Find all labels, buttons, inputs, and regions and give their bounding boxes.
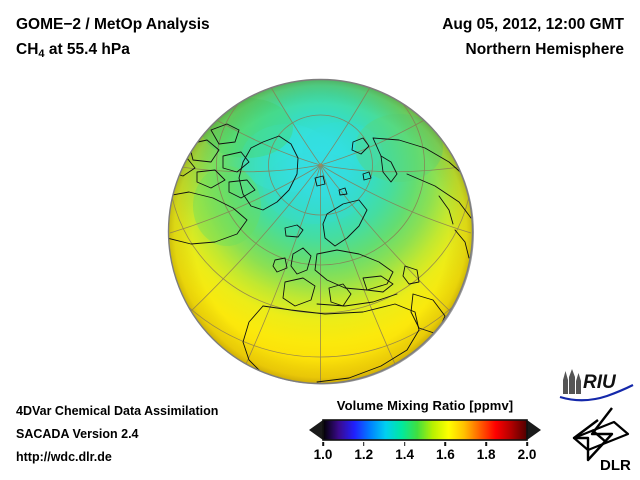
colorbar-tick-label: 1.4	[395, 447, 414, 462]
colorbar-cap-high	[527, 420, 541, 440]
globe-map	[167, 78, 474, 385]
riu-logo: RIU	[557, 368, 635, 402]
colorbar-tick-mark	[363, 442, 365, 446]
colorbar-tick-mark	[485, 442, 487, 446]
datetime-label: Aug 05, 2012, 12:00 GMT	[442, 12, 624, 37]
header-right: Aug 05, 2012, 12:00 GMT Northern Hemisph…	[442, 12, 624, 62]
species-subscript: 4	[38, 48, 44, 60]
version-label: SACADA Version 2.4	[16, 423, 218, 446]
colorbar-tick-mark	[322, 442, 324, 446]
colorbar-cap-low	[309, 420, 323, 440]
north-pole-marker	[319, 163, 322, 166]
website-url[interactable]: http://wdc.dlr.de	[16, 446, 218, 469]
riu-wordmark: RIU	[583, 372, 617, 393]
colorbar-tick-mark	[404, 442, 406, 446]
riu-tower-icon	[563, 369, 581, 394]
hemisphere-label: Northern Hemisphere	[442, 37, 624, 62]
colorbar-tick-label: 1.8	[477, 447, 496, 462]
pressure-level: at 55.4 hPa	[45, 41, 130, 58]
colorbar-bar	[305, 418, 545, 442]
colorbar-title: Volume Mixing Ratio [ppmv]	[305, 398, 545, 413]
orthographic-projection	[167, 78, 474, 385]
colorbar-gradient	[323, 420, 527, 440]
colorbar-tick-mark	[526, 442, 528, 446]
instrument-title: GOME−2 / MetOp Analysis	[16, 12, 210, 37]
header-left: GOME−2 / MetOp Analysis CH4 at 55.4 hPa	[16, 12, 210, 64]
dlr-mark-icon	[574, 408, 628, 460]
figure-canvas: GOME−2 / MetOp Analysis CH4 at 55.4 hPa …	[0, 0, 640, 480]
colorbar-tick-label: 1.6	[436, 447, 455, 462]
colorbar-tick-label: 1.0	[314, 447, 333, 462]
dlr-wordmark: DLR	[600, 457, 631, 474]
species-name: CH	[16, 41, 38, 58]
colorbar-tick-label: 1.2	[354, 447, 373, 462]
footer-text: 4DVar Chemical Data Assimilation SACADA …	[16, 400, 218, 469]
colorbar-tick-mark	[445, 442, 447, 446]
colorbar-ticks: 1.01.21.41.61.82.0	[305, 443, 545, 463]
assimilation-label: 4DVar Chemical Data Assimilation	[16, 400, 218, 423]
species-level-label: CH4 at 55.4 hPa	[16, 37, 210, 64]
colorbar: Volume Mixing Ratio [ppmv] 1.01.21.41.61…	[305, 398, 545, 463]
dlr-logo: DLR	[566, 404, 636, 474]
colorbar-tick-label: 2.0	[518, 447, 537, 462]
